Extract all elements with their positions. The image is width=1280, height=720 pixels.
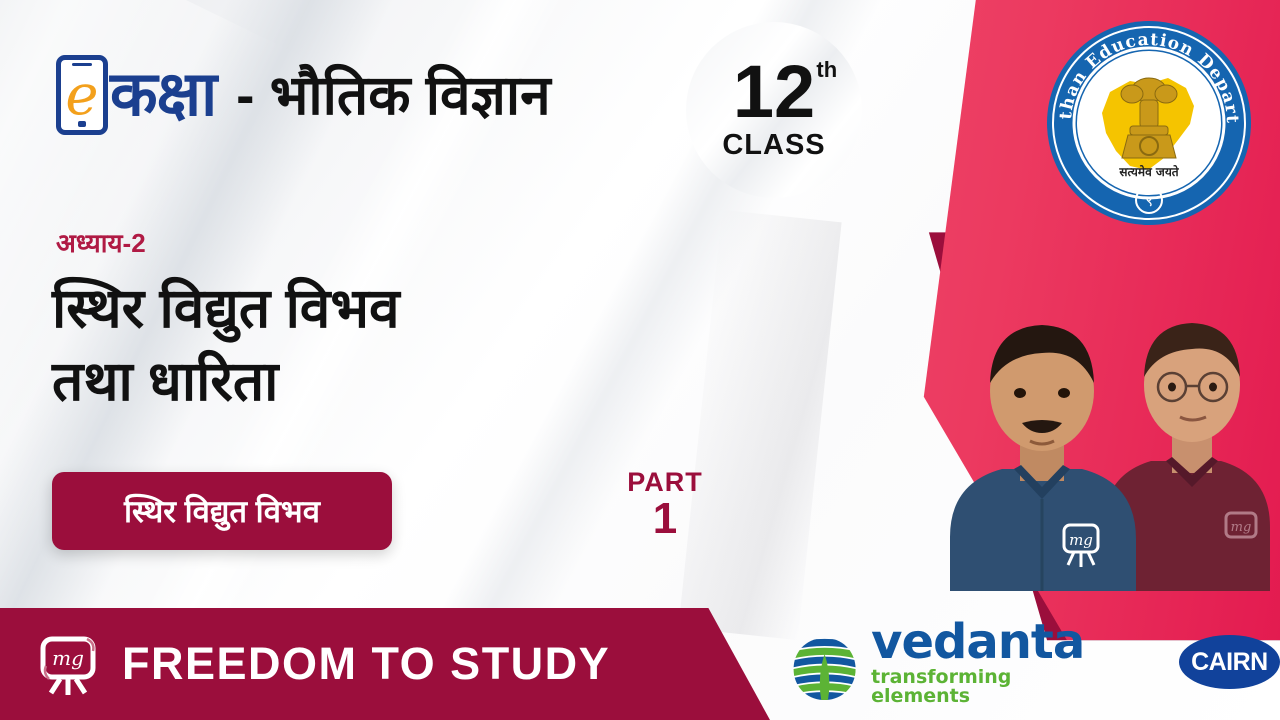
class-number: 12th [733, 58, 815, 126]
instructor-front: mg [950, 325, 1136, 591]
svg-text:mg: mg [1231, 520, 1252, 535]
part-number: 1 [600, 496, 730, 542]
brand-e-letter: e [65, 68, 98, 124]
part-indicator: PART 1 [600, 468, 730, 543]
mg-logo-text: mg [52, 646, 84, 670]
brand-name: कक्षा [110, 64, 216, 126]
class-badge: 12th CLASS [686, 22, 862, 198]
class-number-value: 12 [733, 50, 815, 133]
vedanta-name: vedanta [871, 618, 1101, 666]
cairn-name: CAIRN [1191, 648, 1268, 677]
brand-subject-label: भौतिक विज्ञान [270, 64, 551, 126]
vedanta-text-block: vedanta transforming elements [871, 618, 1101, 706]
topic-badge: स्थिर विद्युत विभव [52, 472, 392, 550]
brand-subject: - भौतिक विज्ञान [236, 68, 551, 123]
page-title-line-1: स्थिर विद्युत विभव [52, 272, 692, 345]
footer-tagline: FREEDOM TO STUDY [122, 638, 610, 690]
rajasthan-education-department-logo: Rajasthan Education Department सत्यमेव ज… [1044, 18, 1254, 228]
mg-logo: mg [38, 633, 100, 695]
emblem-bottom-glyph: ९ [1145, 192, 1153, 210]
brand-logo: e कक्षा - भौतिक विज्ञान [56, 55, 551, 135]
part-label: PART [600, 468, 730, 496]
instructor-photos: mg mg [936, 225, 1280, 591]
instructors-illustration: mg mg [936, 225, 1280, 591]
sponsor-logos: vedanta transforming elements CAIRN [790, 618, 1280, 706]
page-title: स्थिर विद्युत विभव तथा धारिता [52, 272, 692, 417]
class-word: CLASS [722, 129, 825, 162]
brand-separator: - [236, 64, 254, 126]
page-title-line-2: तथा धारिता [52, 345, 692, 418]
mg-logo-shirt-front: mg [1064, 525, 1098, 567]
class-number-suffix: th [816, 60, 837, 80]
vedanta-logo: vedanta transforming elements [790, 618, 1101, 706]
vedanta-tagline: transforming elements [871, 668, 1101, 706]
vedanta-globe-leaf-icon [790, 632, 859, 706]
topic-badge-label: स्थिर विद्युत विभव [124, 490, 320, 532]
slide-canvas: e कक्षा - भौतिक विज्ञान 12th CLASS Rajas… [0, 0, 1280, 720]
cairn-logo: CAIRN [1179, 635, 1280, 689]
chapter-label: अध्याय-2 [56, 224, 146, 260]
smartphone-icon: e [56, 55, 108, 135]
svg-text:mg: mg [1069, 531, 1093, 549]
footer-content: mg FREEDOM TO STUDY [38, 608, 610, 720]
emblem-motto: सत्यमेव जयते [1118, 165, 1179, 179]
emblem-svg: Rajasthan Education Department सत्यमेव ज… [1044, 18, 1254, 228]
mg-board-icon: mg [38, 633, 100, 695]
